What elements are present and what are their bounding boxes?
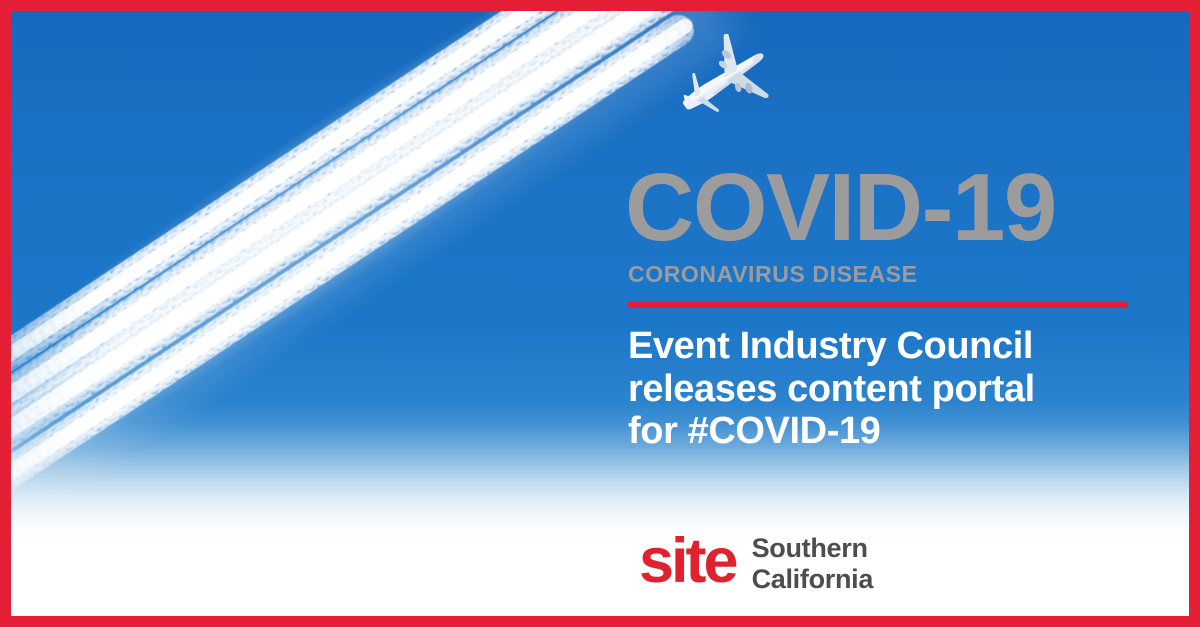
headline-line-2: releases content portal — [628, 368, 1185, 411]
covid-subtitle: CORONAVIRUS DISEASE — [628, 261, 1185, 288]
covid-title: COVID-19 — [625, 161, 1185, 255]
headline: Event Industry Council releases content … — [628, 325, 1185, 453]
text-block: COVID-19 CORONAVIRUS DISEASE Event Indus… — [625, 161, 1185, 453]
logo-chapter-name: Southern California — [752, 533, 874, 595]
poster: COVID-19 CORONAVIRUS DISEASE Event Indus… — [0, 0, 1200, 627]
airplane-icon — [674, 34, 778, 126]
headline-line-3: for #COVID-19 — [628, 410, 1185, 453]
red-divider — [628, 302, 1128, 308]
poster-canvas: COVID-19 CORONAVIRUS DISEASE Event Indus… — [11, 11, 1189, 616]
logo-chapter-line-1: Southern — [752, 533, 874, 564]
site-wordmark: site — [639, 530, 736, 593]
logo-chapter-line-2: California — [752, 564, 874, 595]
headline-line-1: Event Industry Council — [628, 325, 1185, 368]
site-southern-california-logo: site Southern California — [639, 532, 873, 595]
